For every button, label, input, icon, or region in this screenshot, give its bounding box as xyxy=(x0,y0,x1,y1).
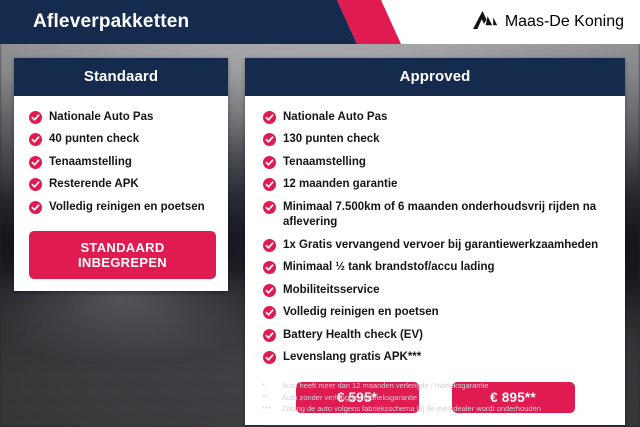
feature-label: Volledig reinigen en poetsen xyxy=(49,200,205,216)
list-item: 1x Gratis vervangend vervoer bij garanti… xyxy=(245,234,625,257)
list-item: Nationale Auto Pas xyxy=(245,106,625,129)
check-circle-icon xyxy=(263,111,276,124)
brand-lockup: Maas-De Koning xyxy=(472,0,624,44)
feature-list-standaard: Nationale Auto Pas 40 punten check Tenaa… xyxy=(14,106,228,219)
list-item: Volledig reinigen en poetsen xyxy=(245,302,625,325)
card-title-standaard: Standaard xyxy=(14,58,228,96)
feature-label: Minimaal ½ tank brandstof/accu lading xyxy=(283,260,495,276)
list-item: Tenaamstelling xyxy=(14,151,228,174)
check-circle-icon xyxy=(263,133,276,146)
footnotes: * Auto heeft meer dan 12 maanden verleng… xyxy=(262,380,622,415)
feature-label: Nationale Auto Pas xyxy=(283,110,387,126)
list-item: Nationale Auto Pas xyxy=(14,106,228,129)
list-item: 130 punten check xyxy=(245,129,625,152)
feature-label: Nationale Auto Pas xyxy=(49,110,153,126)
list-item: 12 maanden garantie xyxy=(245,174,625,197)
feature-label: Tenaamstelling xyxy=(283,155,366,171)
footnote-marker: * xyxy=(262,380,278,392)
check-circle-icon xyxy=(29,111,42,124)
list-item: Minimaal ½ tank brandstof/accu lading xyxy=(245,257,625,280)
check-circle-icon xyxy=(263,239,276,252)
feature-label: Mobiliteitsservice xyxy=(283,283,380,299)
footnote-text: Auto heeft meer dan 12 maanden verlengde… xyxy=(282,380,488,392)
feature-label: Tenaamstelling xyxy=(49,155,132,171)
feature-list-approved: Nationale Auto Pas 130 punten check Tena… xyxy=(245,106,625,369)
footnote-row: * Auto heeft meer dan 12 maanden verleng… xyxy=(262,380,622,392)
brand-name: Maas-De Koning xyxy=(505,13,624,31)
list-item: Volledig reinigen en poetsen xyxy=(14,196,228,219)
feature-label: 40 punten check xyxy=(49,132,139,148)
list-item: Mobiliteitsservice xyxy=(245,279,625,302)
check-circle-icon xyxy=(263,178,276,191)
check-circle-icon xyxy=(263,284,276,297)
list-item: Levenslang gratis APK*** xyxy=(245,347,625,370)
standaard-inbegrepen-button[interactable]: STANDAARD INBEGREPEN xyxy=(29,231,216,279)
check-circle-icon xyxy=(263,156,276,169)
feature-label: Minimaal 7.500km of 6 maanden onderhouds… xyxy=(283,200,611,231)
check-circle-icon xyxy=(29,156,42,169)
check-circle-icon xyxy=(263,306,276,319)
check-circle-icon xyxy=(263,201,276,214)
list-item: Minimaal 7.500km of 6 maanden onderhouds… xyxy=(245,196,625,234)
footnote-marker: *** xyxy=(262,403,278,415)
list-item: Battery Health check (EV) xyxy=(245,324,625,347)
afleverpakketten-page: Afleverpakketten Maas-De Koning Standaar… xyxy=(0,0,640,427)
list-item: Resterende APK xyxy=(14,174,228,197)
check-circle-icon xyxy=(263,261,276,274)
feature-label: Resterende APK xyxy=(49,177,139,193)
check-circle-icon xyxy=(263,351,276,364)
feature-label: 12 maanden garantie xyxy=(283,177,397,193)
page-header: Afleverpakketten Maas-De Koning xyxy=(0,0,640,44)
page-title: Afleverpakketten xyxy=(33,0,189,44)
footnote-row: ** Auto zonder verlengde / fabrieksgaran… xyxy=(262,392,622,404)
list-item: Tenaamstelling xyxy=(245,151,625,174)
card-title-approved: Approved xyxy=(245,58,625,96)
check-circle-icon xyxy=(29,201,42,214)
footnote-text: Auto zonder verlengde / fabrieksgarantie xyxy=(282,392,417,404)
feature-label: Levenslang gratis APK*** xyxy=(283,350,421,366)
feature-label: 1x Gratis vervangend vervoer bij garanti… xyxy=(283,238,598,254)
card-body-standaard: Nationale Auto Pas 40 punten check Tenaa… xyxy=(14,96,228,291)
maas-de-koning-m-mark-icon xyxy=(472,10,498,35)
list-item: 40 punten check xyxy=(14,129,228,152)
footnote-row: *** Zolang de auto volgens fabrieksschem… xyxy=(262,403,622,415)
card-body-approved: Nationale Auto Pas 130 punten check Tena… xyxy=(245,96,625,425)
footnote-marker: ** xyxy=(262,392,278,404)
package-card-approved: Approved Nationale Auto Pas 130 punten c… xyxy=(245,58,625,425)
check-circle-icon xyxy=(29,133,42,146)
feature-label: Volledig reinigen en poetsen xyxy=(283,305,439,321)
package-card-standaard: Standaard Nationale Auto Pas 40 punten c… xyxy=(14,58,228,291)
check-circle-icon xyxy=(29,178,42,191)
feature-label: Battery Health check (EV) xyxy=(283,328,423,344)
check-circle-icon xyxy=(263,329,276,342)
footnote-text: Zolang de auto volgens fabrieksschema bi… xyxy=(282,403,541,415)
feature-label: 130 punten check xyxy=(283,132,380,148)
